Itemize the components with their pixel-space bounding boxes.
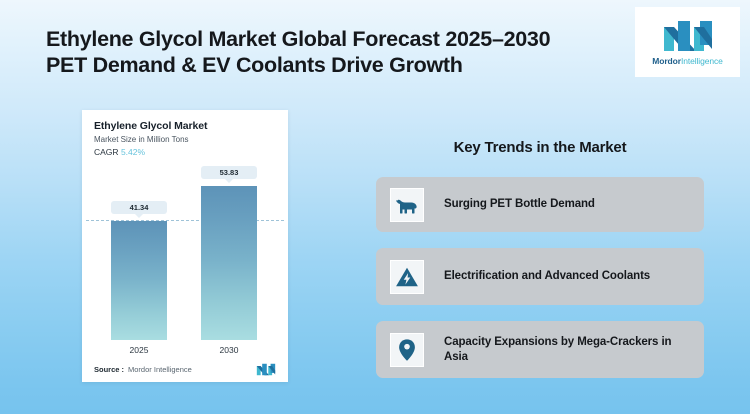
map-pin-icon [390,333,424,367]
trend-label-1: Surging PET Bottle Demand [444,197,595,212]
x-axis-label-2030: 2030 [201,345,257,355]
bar-value-label-2030: 53.83 [201,166,257,180]
brand-logo: MordorIntelligence [635,7,740,77]
x-axis-label-2025: 2025 [111,345,167,355]
dog-icon-glyph [396,195,418,215]
chart-subtitle: Market Size in Million Tons [94,135,276,144]
brand-name-part2: Intelligence [681,56,723,66]
bar-2030 [201,186,257,340]
trend-card-3[interactable]: Capacity Expansions by Mega-Crackers in … [376,321,704,378]
chart-title: Ethylene Glycol Market [94,120,276,132]
bar-2025 [111,221,167,340]
trend-label-2: Electrification and Advanced Coolants [444,269,650,284]
bar-chart-plot: 41.34 53.83 [82,168,288,340]
mordor-m-mark-small-icon [256,363,276,376]
trend-card-1[interactable]: Surging PET Bottle Demand [376,177,704,232]
page-title-line-2: PET Demand & EV Coolants Drive Growth [46,52,626,78]
map-pin-icon-glyph [398,338,416,362]
page-title: Ethylene Glycol Market Global Forecast 2… [46,26,626,78]
trend-card-2[interactable]: Electrification and Advanced Coolants [376,248,704,305]
dog-icon [390,188,424,222]
brand-wordmark: MordorIntelligence [652,56,723,66]
mordor-m-mark-icon [662,19,714,53]
source-label: Source : [94,365,124,374]
bar-value-label-2025: 41.34 [111,201,167,215]
lightning-warning-icon-glyph [395,266,419,288]
source-value: Mordor Intelligence [128,365,192,374]
lightning-warning-icon [390,260,424,294]
chart-card: Ethylene Glycol Market Market Size in Mi… [82,110,288,382]
chart-cagr: CAGR 5.42% [94,147,276,157]
chart-header: Ethylene Glycol Market Market Size in Mi… [82,110,288,157]
key-trends-heading: Key Trends in the Market [382,139,698,156]
cagr-label: CAGR [94,147,119,157]
trend-label-3: Capacity Expansions by Mega-Crackers in … [444,335,690,365]
brand-name-part1: Mordor [652,56,681,66]
infographic-canvas: Ethylene Glycol Market Global Forecast 2… [0,0,750,414]
page-title-line-1: Ethylene Glycol Market Global Forecast 2… [46,26,626,52]
chart-source: Source : Mordor Intelligence [82,356,288,382]
cagr-value: 5.42% [121,147,145,157]
